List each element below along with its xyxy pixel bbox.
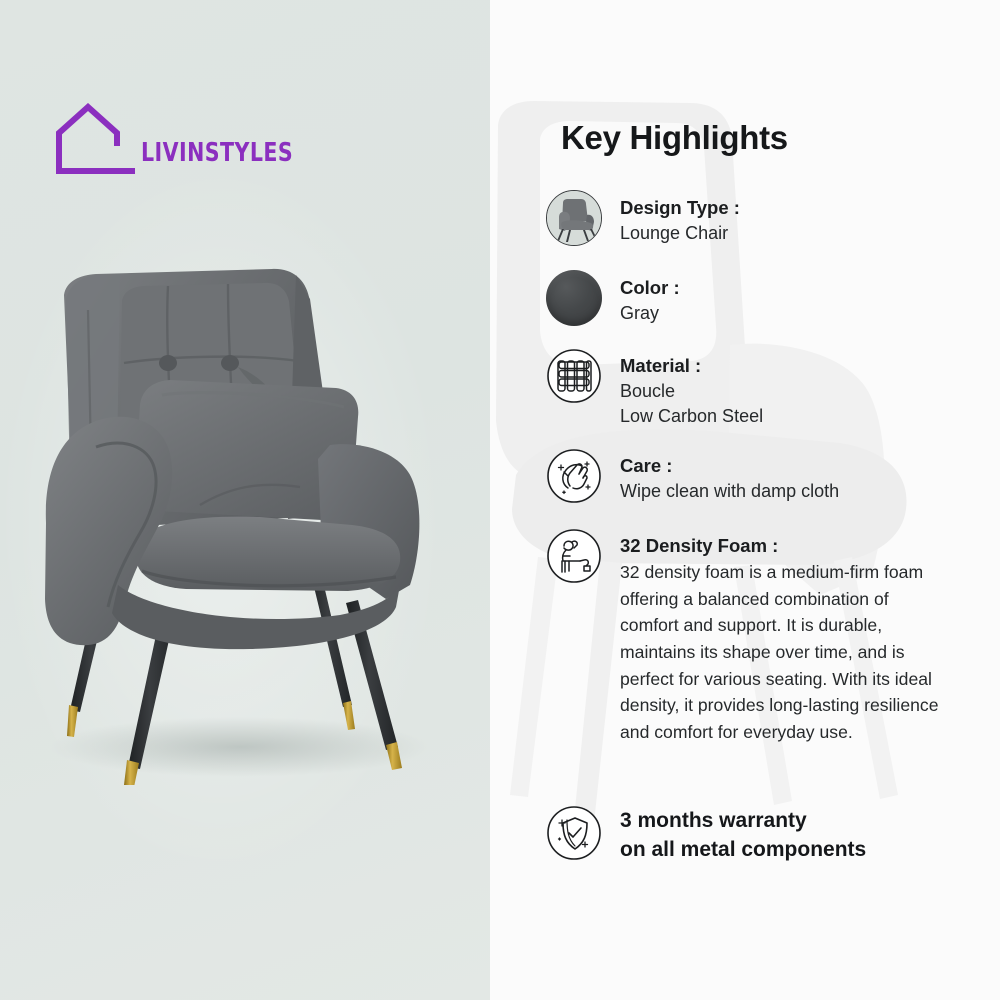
brand-logo[interactable]: LIVINSTYLES	[55, 103, 305, 185]
highlight-value: Gray	[620, 301, 680, 326]
highlight-row-design-type: Design Type : Lounge Chair	[546, 190, 740, 246]
highlight-row-color: Color : Gray	[546, 270, 680, 326]
highlight-value: 32 density foam is a medium-firm foam of…	[620, 559, 950, 746]
warranty-row: 3 months warranty on all metal component…	[546, 805, 866, 865]
highlight-value: Lounge Chair	[620, 221, 740, 246]
highlight-row-material: Material : Boucle Low Carbon Steel	[546, 348, 763, 429]
lounge-chair-thumb-icon	[546, 190, 602, 246]
product-infographic: LIVINSTYLES	[0, 0, 1000, 1000]
highlight-value: Low Carbon Steel	[620, 404, 763, 429]
person-relaxing-recliner-icon	[546, 528, 602, 584]
highlight-label: Care :	[620, 454, 839, 479]
highlight-row-care: Care : Wipe clean with damp cloth	[546, 448, 839, 504]
lounge-chair-illustration	[0, 255, 490, 785]
shield-check-sparkle-icon	[546, 805, 602, 861]
highlight-label: Design Type :	[620, 196, 740, 221]
highlights-panel: Key Highlights	[490, 0, 1000, 1000]
highlight-label: 32 Density Foam :	[620, 534, 950, 559]
warranty-line-2: on all metal components	[620, 836, 866, 865]
highlight-label: Material :	[620, 354, 763, 379]
highlight-value: Boucle	[620, 379, 763, 404]
warranty-line-1: 3 months warranty	[620, 807, 866, 836]
highlight-label: Color :	[620, 276, 680, 301]
woven-fabric-icon	[546, 348, 602, 404]
cleaning-hand-sparkle-icon	[546, 448, 602, 504]
product-photo	[0, 255, 490, 785]
product-image-panel: LIVINSTYLES	[0, 0, 490, 1000]
color-swatch-icon	[546, 270, 602, 326]
highlight-value: Wipe clean with damp cloth	[620, 479, 839, 504]
highlight-row-foam: 32 Density Foam : 32 density foam is a m…	[546, 528, 950, 746]
brand-name: LIVINSTYLES	[141, 138, 293, 168]
page-title: Key Highlights	[561, 119, 788, 157]
